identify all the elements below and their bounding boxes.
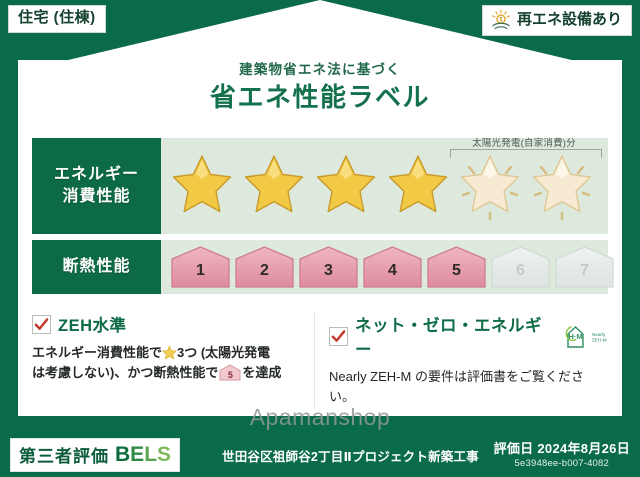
insulation-level-number: 7 — [554, 262, 615, 280]
label-footer: 第三者評価 BELS 世田谷区祖師谷2丁目Ⅱプロジェクト新築工事 評価日 202… — [0, 432, 640, 477]
energy-performance-label: 住宅 (住棟) 再エネ設備あり 建築物省エネ法に基づく 省エネ性能ラベル — [0, 0, 640, 477]
star-filled — [383, 147, 453, 225]
insulation-level-inline-icon: 5 — [219, 364, 241, 381]
star-filled — [167, 147, 237, 225]
evaluation-id: 5e3948ee-b007-4082 — [494, 458, 630, 469]
zeh-standard-title: ZEH水準 — [58, 312, 127, 336]
building-type-label: 住宅 (住棟) — [18, 9, 96, 26]
insulation-level-on: 5 — [426, 245, 487, 289]
sun-solar-icon — [490, 9, 512, 31]
insulation-level-number: 1 — [170, 262, 231, 280]
bels-jp-text: 第三者評価 — [19, 442, 109, 467]
net-zero-energy-block: ネット・ゼロ・エネルギー H·M Nearly ZEH-M Nearly ZEH… — [314, 312, 622, 410]
star-icon-inline — [162, 345, 177, 360]
net-zero-energy-description: Nearly ZEH-M の要件は評価書をご覧ください。 — [329, 367, 608, 407]
insulation-level-scale: 1234567 — [161, 240, 608, 294]
svg-text:H·M: H·M — [568, 332, 582, 341]
insulation-level-on: 4 — [362, 245, 423, 289]
zeh-standard-block: ZEH水準 エネルギー消費性能で 3つ (太陽光発電 は考慮しない)、かつ断熱性… — [18, 312, 314, 410]
criteria-section: ZEH水準 エネルギー消費性能で 3つ (太陽光発電 は考慮しない)、かつ断熱性… — [18, 312, 622, 410]
insulation-row-body: 1234567 — [161, 240, 608, 294]
project-address: 世田谷区祖師谷2丁目Ⅱプロジェクト新築工事 — [222, 446, 479, 465]
zeh-desc-part2: 3つ (太陽光発電 — [177, 345, 270, 360]
zeh-desc-house-value: 5 — [219, 369, 241, 383]
energy-row-body: 太陽光発電(自家消費)分 — [161, 138, 608, 234]
insulation-level-on: 1 — [170, 245, 231, 289]
check-icon — [329, 327, 348, 346]
building-type-tag: 住宅 (住棟) — [8, 5, 106, 33]
insulation-level-number: 4 — [362, 262, 423, 280]
energy-performance-row: エネルギー 消費性能 太陽光発電(自家消費)分 — [32, 138, 608, 234]
insulation-row-label: 断熱性能 — [32, 240, 161, 294]
insulation-level-number: 6 — [490, 262, 551, 280]
zeh-standard-header: ZEH水準 — [32, 312, 300, 336]
star-filled — [239, 147, 309, 225]
star-rating — [161, 138, 608, 234]
star-solar — [455, 147, 525, 225]
check-icon — [32, 315, 51, 334]
insulation-level-off: 7 — [554, 245, 615, 289]
bels-badge: 第三者評価 BELS — [10, 438, 180, 472]
net-zero-energy-title: ネット・ゼロ・エネルギー — [355, 312, 551, 360]
energy-row-label-line2: 消費性能 — [62, 186, 130, 208]
evaluation-date: 評価日 2024年8月26日 — [494, 438, 630, 457]
insulation-level-number: 3 — [298, 262, 359, 280]
star-solar — [527, 147, 597, 225]
zeh-desc-part1: エネルギー消費性能で — [32, 345, 162, 360]
renewable-label: 再エネ設備あり — [517, 11, 622, 30]
svg-text:Nearly: Nearly — [592, 332, 606, 337]
insulation-level-number: 2 — [234, 262, 295, 280]
evaluation-info: 評価日 2024年8月26日 5e3948ee-b007-4082 — [494, 438, 630, 469]
page-title: 省エネ性能ラベル — [0, 77, 640, 114]
svg-text:ZEH-M: ZEH-M — [592, 338, 607, 343]
nearly-zeh-m-logo: H·M Nearly ZEH-M — [564, 323, 608, 349]
zeh-standard-description: エネルギー消費性能で 3つ (太陽光発電 は考慮しない)、かつ断熱性能で 5 を… — [32, 343, 300, 383]
insulation-level-on: 2 — [234, 245, 295, 289]
bels-en-text: BELS — [115, 443, 171, 467]
label-subtitle: 建築物省エネ法に基づく — [0, 58, 640, 78]
insulation-level-number: 5 — [426, 262, 487, 280]
insulation-level-off: 6 — [490, 245, 551, 289]
zeh-desc-part4: を達成 — [242, 365, 281, 380]
zeh-desc-part3: は考慮しない)、かつ断熱性能で — [32, 365, 218, 380]
star-filled — [311, 147, 381, 225]
energy-row-label: エネルギー 消費性能 — [32, 138, 161, 234]
energy-row-label-line1: エネルギー — [54, 164, 139, 186]
insulation-performance-row: 断熱性能 1234567 — [32, 240, 608, 294]
net-zero-energy-header: ネット・ゼロ・エネルギー H·M Nearly ZEH-M — [329, 312, 608, 360]
insulation-level-on: 3 — [298, 245, 359, 289]
insulation-row-label-text: 断熱性能 — [62, 256, 130, 278]
renewable-equipment-tag: 再エネ設備あり — [482, 5, 632, 36]
